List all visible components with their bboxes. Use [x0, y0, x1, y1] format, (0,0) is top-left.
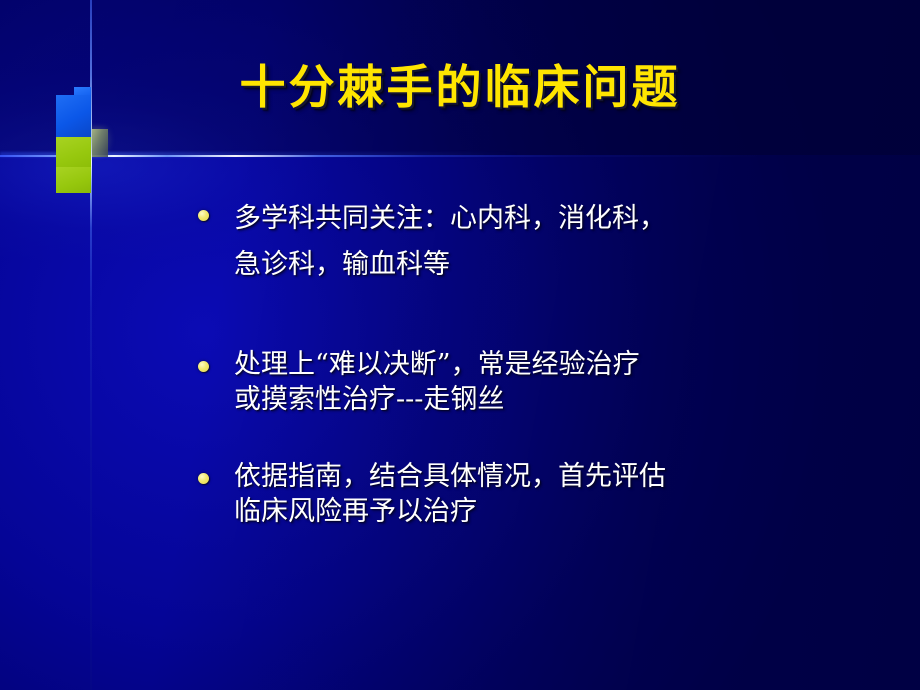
- bullet-dot-icon: [198, 473, 209, 484]
- bullet-list: 多学科共同关注：心内科，消化科， 急诊科，输血科等 处理上“难以决断”，常是经验…: [198, 196, 898, 529]
- green-square-lower-icon: [56, 167, 91, 193]
- list-item-text: 处理上“难以决断”，常是经验治疗 或摸索性治疗---走钢丝: [234, 347, 640, 417]
- list-item-text: 多学科共同关注：心内科，消化科， 急诊科，输血科等: [234, 196, 666, 289]
- gray-square-icon: [92, 129, 108, 157]
- presentation-slide: 十分棘手的临床问题 多学科共同关注：心内科，消化科， 急诊科，输血科等 处理上“…: [0, 0, 920, 690]
- horizontal-divider: [0, 155, 760, 157]
- list-item: 多学科共同关注：心内科，消化科， 急诊科，输血科等: [198, 196, 898, 289]
- list-item: 处理上“难以决断”，常是经验治疗 或摸索性治疗---走钢丝: [198, 347, 898, 417]
- list-item-text: 依据指南，结合具体情况，首先评估 临床风险再予以治疗: [234, 459, 666, 529]
- bullet-dot-icon: [198, 210, 209, 221]
- list-item: 依据指南，结合具体情况，首先评估 临床风险再予以治疗: [198, 459, 898, 529]
- page-title: 十分棘手的临床问题: [0, 62, 920, 113]
- bullet-dot-icon: [198, 361, 209, 372]
- green-square-upper-icon: [56, 137, 91, 167]
